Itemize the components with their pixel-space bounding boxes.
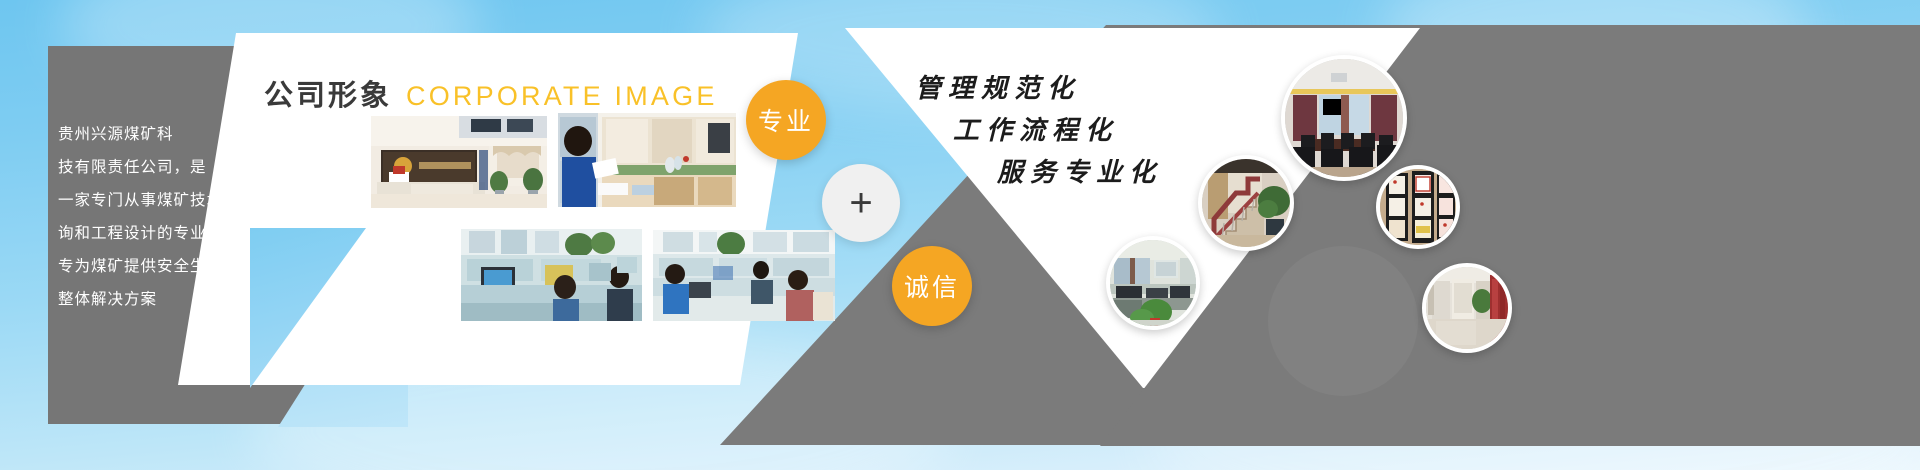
title-chinese: 公司形象 [264, 72, 392, 114]
plus-symbol: + [849, 183, 872, 223]
certificate-wall-photo [1376, 165, 1460, 249]
badge-professional[interactable]: 专业 [746, 80, 826, 160]
staff-working-photo [558, 113, 736, 207]
office-interior-photo [1106, 236, 1200, 330]
title-english: CORPORATE IMAGE [406, 81, 718, 112]
company-image-banner: 贵州兴源煤矿科 技有限责任公司，是 一家专门从事煤矿技术咨 询和工程设计的专业公… [0, 0, 1920, 470]
lobby-reception-photo [371, 116, 547, 208]
corporate-image-title: 公司形象 CORPORATE IMAGE [264, 72, 718, 114]
office-area-photo [653, 230, 835, 321]
slogan-line-1: 管理规范化 [915, 68, 1235, 110]
staircase-photo [1198, 155, 1294, 251]
slogan-line-2: 工作流程化 [953, 110, 1235, 152]
plus-icon: + [822, 164, 900, 242]
corridor-photo [1422, 263, 1512, 353]
ghost-circle-decoration [1268, 246, 1418, 396]
company-slogan: 管理规范化 工作流程化 服务专业化 [905, 68, 1235, 194]
workstation-photo [461, 229, 642, 321]
badge-professional-label: 专业 [758, 102, 814, 138]
badge-integrity[interactable]: 诚信 [892, 246, 972, 326]
badge-integrity-label: 诚信 [904, 268, 960, 304]
meeting-room-photo [1281, 55, 1407, 181]
